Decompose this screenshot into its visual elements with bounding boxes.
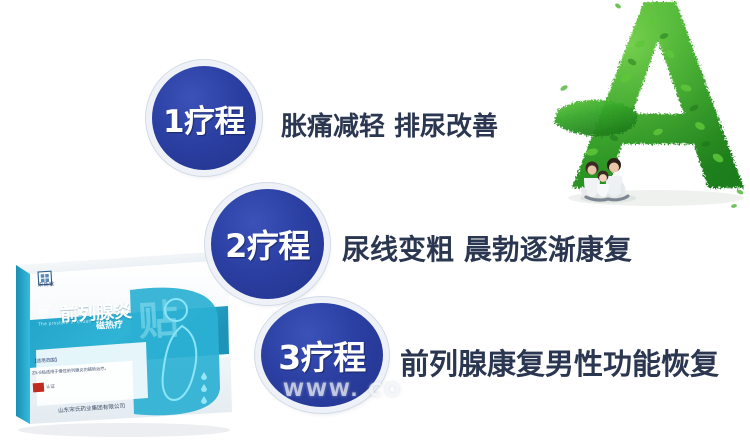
product-tie-character: 贴 [136, 287, 179, 347]
poster-canvas: 宋氏堂 ZS-8 慢性 前列腺炎 The prostate in chuan 磁… [0, 0, 750, 446]
step-badge-label-3: 3疗程 [278, 331, 365, 379]
certification-mark-icon [33, 383, 45, 393]
step-description-3: 前列腺康复男性功能恢复 [400, 341, 719, 383]
step-badge-1: 1疗程 [152, 66, 256, 170]
product-code-and-type: ZS-8 慢性 [38, 303, 51, 316]
product-subtitle: 磁热疗 [96, 317, 124, 332]
step-description-1: 胀痛减轻 排尿改善 [281, 106, 498, 143]
step-badge-2: 2疗程 [211, 189, 324, 299]
step-badge-label-2: 2疗程 [225, 221, 310, 267]
step-badge-3: 3疗程 [261, 303, 383, 407]
product-logo-text: 宋氏堂 [38, 281, 55, 289]
family-figure [580, 158, 636, 203]
product-type-small: 慢性 [38, 309, 49, 316]
step-badge-label-1: 1疗程 [163, 96, 245, 141]
leafy-letter-a-artwork [548, 0, 750, 224]
step-description-2: 尿线变粗 晨勃逐渐康复 [342, 228, 632, 268]
certification-label: 认证 [46, 384, 55, 391]
